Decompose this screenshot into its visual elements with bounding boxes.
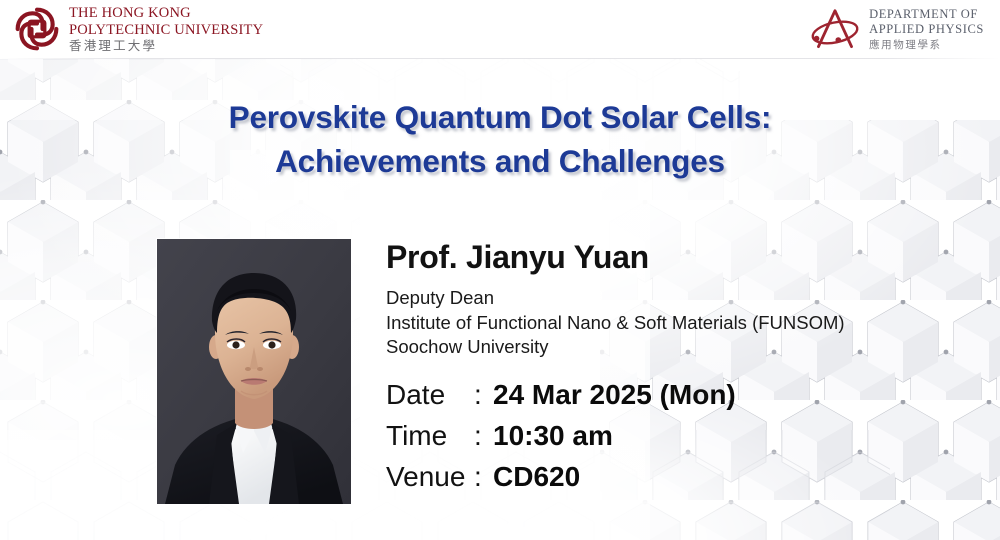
venue-value: CD620 bbox=[493, 456, 580, 497]
polyu-name-chinese: 香港理工大學 bbox=[69, 40, 263, 53]
applied-physics-logo: DEPARTMENT OF APPLIED PHYSICS 應用物理學系 bbox=[809, 6, 984, 52]
time-label: Time bbox=[386, 415, 474, 456]
time-colon: : bbox=[474, 415, 493, 456]
speaker-affiliation-1: Deputy Dean bbox=[386, 286, 845, 311]
speaker-affiliation-2: Institute of Functional Nano & Soft Mate… bbox=[386, 311, 845, 336]
speaker-info: Prof. Jianyu Yuan Deputy Dean Institute … bbox=[386, 237, 845, 497]
title-line-2: Achievements and Challenges bbox=[0, 139, 1000, 183]
applied-physics-line1: DEPARTMENT OF bbox=[869, 8, 984, 21]
polyu-name-line1: THE HONG KONG bbox=[69, 6, 263, 21]
date-colon: : bbox=[474, 374, 493, 415]
polyu-name-line2: POLYTECHNIC UNIVERSITY bbox=[69, 23, 263, 38]
speaker-name: Prof. Jianyu Yuan bbox=[386, 237, 845, 277]
polyu-logo: THE HONG KONG POLYTECHNIC UNIVERSITY 香港理… bbox=[14, 6, 263, 53]
applied-physics-chinese: 應用物理學系 bbox=[869, 40, 984, 51]
speaker-affiliation-3: Soochow University bbox=[386, 335, 845, 360]
header-band: THE HONG KONG POLYTECHNIC UNIVERSITY 香港理… bbox=[0, 0, 1000, 59]
title-line-1: Perovskite Quantum Dot Solar Cells: bbox=[0, 95, 1000, 139]
time-value: 10:30 am bbox=[493, 415, 613, 456]
speaker-photo bbox=[157, 239, 351, 504]
applied-physics-line2: APPLIED PHYSICS bbox=[869, 23, 984, 36]
seminar-poster: THE HONG KONG POLYTECHNIC UNIVERSITY 香港理… bbox=[0, 0, 1000, 540]
poster-title: Perovskite Quantum Dot Solar Cells: Achi… bbox=[0, 95, 1000, 183]
event-details: Date : 24 Mar 2025 (Mon) Time : 10:30 am… bbox=[386, 374, 845, 497]
event-detail-date: Date : 24 Mar 2025 (Mon) bbox=[386, 374, 845, 415]
event-detail-time: Time : 10:30 am bbox=[386, 415, 845, 456]
applied-physics-atom-icon bbox=[809, 6, 861, 52]
venue-label: Venue bbox=[386, 456, 474, 497]
date-value: 24 Mar 2025 (Mon) bbox=[493, 374, 736, 415]
date-label: Date bbox=[386, 374, 474, 415]
event-detail-venue: Venue : CD620 bbox=[386, 456, 845, 497]
polyu-knot-icon bbox=[14, 6, 60, 52]
venue-colon: : bbox=[474, 456, 493, 497]
